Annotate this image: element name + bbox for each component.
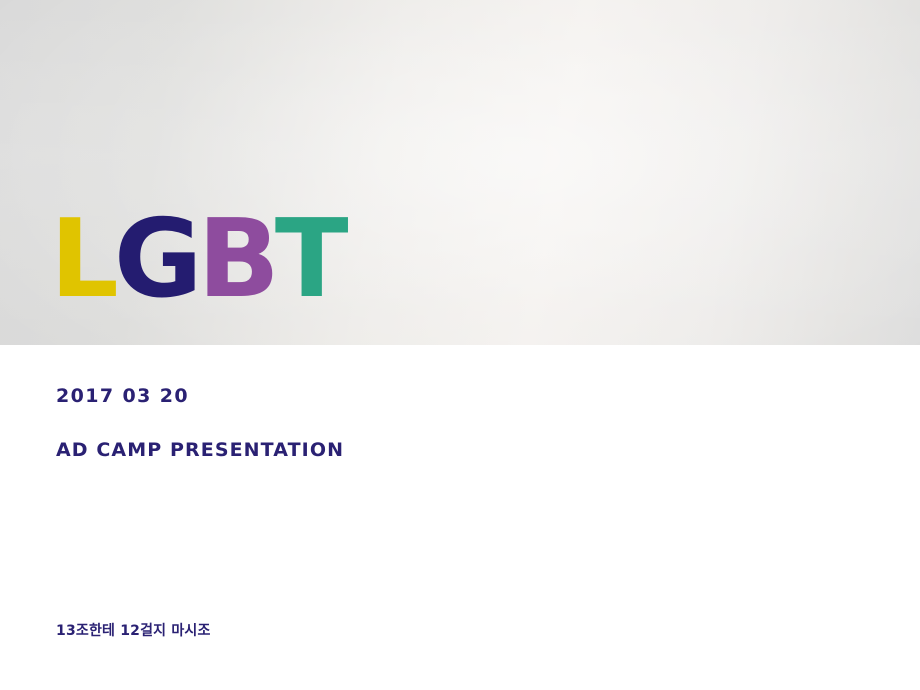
presentation-title: AD CAMP PRESENTATION bbox=[56, 439, 344, 461]
team-footnote: 13조한테 12걸지 마시조 bbox=[56, 620, 211, 640]
logo-letter-t: T bbox=[275, 206, 344, 314]
logo-letter-l: L bbox=[50, 206, 114, 314]
lgbt-wordmark: LGBT bbox=[50, 206, 343, 314]
logo-letter-b: B bbox=[197, 206, 274, 314]
logo-letter-g: G bbox=[114, 206, 198, 314]
presentation-slide: LGBT 2017 03 20 AD CAMP PRESENTATION 13조… bbox=[0, 0, 920, 690]
presentation-date: 2017 03 20 bbox=[56, 385, 189, 407]
